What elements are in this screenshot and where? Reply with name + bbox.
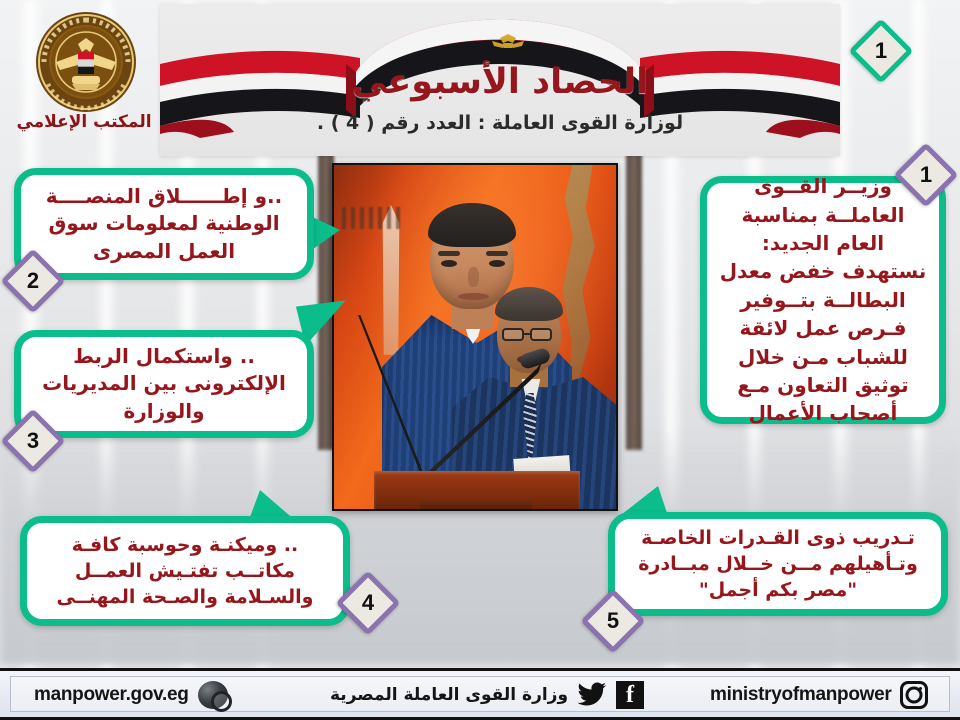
footer-social-page[interactable]: f وزارة القوى العاملة المصرية [330,681,644,709]
callout-bubble-2[interactable]: ..و إطــــــلاق المنصــــة الوطنية لمعلو… [14,168,314,280]
callout-5-text: تـدريب ذوى القـدرات الخاصـة وتـأهيلهم مـ… [627,525,929,604]
issue-subtitle: لوزارة القوى العاملة : العدد رقم ( 4 ) . [160,112,840,134]
website-label: manpower.gov.eg [34,684,189,706]
facebook-icon: f [616,681,644,709]
instagram-label: ministryofmanpower [710,684,891,706]
infographic-canvas: الحصاد الأسبوعي لوزارة القوى العاملة : ا… [0,0,960,720]
badge-4-number: 4 [350,585,386,621]
globe-search-icon [198,681,228,709]
badge-3-number: 3 [15,423,51,459]
instagram-icon [900,681,928,709]
badge-top-right-number: 1 [863,33,899,69]
badge-5-number: 5 [595,603,631,639]
callout-bubble-5[interactable]: تـدريب ذوى القـدرات الخاصـة وتـأهيلهم مـ… [608,512,948,616]
background-post-right [626,150,642,450]
footer-instagram[interactable]: ministryofmanpower [710,681,928,709]
footer-bar: manpower.gov.eg f وزارة القوى العاملة ال… [0,668,960,720]
callout-1-text: وزيــر القــوى العاملــة بمناسبة العام ا… [719,172,927,428]
minister-photo [332,163,618,511]
callout-bubble-4[interactable]: .. وميكنـة وحوسبة كافـة مكاتــب تفتـيش ا… [20,516,350,626]
callout-2-text: ..و إطــــــلاق المنصــــة الوطنية لمعلو… [33,183,295,266]
callout-4-text: .. وميكنـة وحوسبة كافـة مكاتــب تفتـيش ا… [39,532,331,611]
callout-bubble-3[interactable]: .. واستكمال الربط الإلكترونى بين المديري… [14,330,314,438]
twitter-bird-icon [577,681,607,709]
callout-3-text: .. واستكمال الربط الإلكترونى بين المديري… [33,343,295,426]
ministry-of-manpower-seal [18,8,148,158]
badge-1-number: 1 [908,157,944,193]
footer-website[interactable]: manpower.gov.eg [34,681,228,709]
social-page-label: وزارة القوى العاملة المصرية [330,685,568,705]
callout-bubble-1[interactable]: وزيــر القــوى العاملــة بمناسبة العام ا… [700,176,946,424]
badge-2-number: 2 [15,263,51,299]
page-title: الحصاد الأسبوعي [160,62,840,102]
